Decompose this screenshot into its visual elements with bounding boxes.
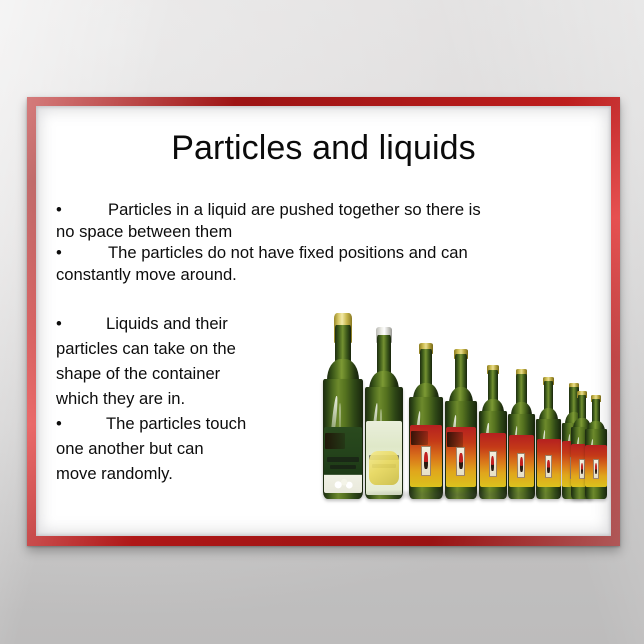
bottle-label [537,439,561,487]
bullet-text: shape of the container [56,364,220,383]
bullet-line: •Particles in a liquid are pushed togeth… [56,199,591,221]
bottle-body [536,419,561,499]
bottle-label [509,435,535,487]
bottle-label [446,427,477,487]
label-emblem-icon [517,453,525,478]
label-emblem-icon [489,451,497,477]
slide-content: Particles and liquids •Particles in a li… [36,106,611,536]
bullet-line: one another but can [56,436,318,461]
bottle-label [585,445,606,487]
bullet-line: shape of the container [56,361,318,386]
label-emblem-icon [456,447,465,476]
label-emblem-icon [421,446,431,476]
label-emblem-icon [579,459,585,480]
bottle-body [479,411,507,499]
bullet-text: constantly move around. [56,265,237,284]
label-emblem-icon [593,459,599,479]
bullet-item-4: •The particles touch one another but can… [56,411,318,486]
bottle-5 [479,365,507,499]
bullet-text: particles can take on the [56,339,236,358]
bullet-text: The particles touch [106,414,246,433]
bottle-body [365,387,403,499]
bottle-body [445,401,477,499]
bottle-label [366,421,402,495]
bullet-line: •Liquids and their [56,311,318,336]
bullet-line: •The particles touch [56,411,318,436]
bullet-marker-icon: • [56,311,64,336]
bottle-body [508,414,535,499]
bullet-line: particles can take on the [56,336,318,361]
bullet-line: move randomly. [56,461,318,486]
bottle-7 [536,377,561,499]
bullet-marker-icon: • [56,199,64,221]
bullet-item-1: •Particles in a liquid are pushed togeth… [56,199,591,242]
bullet-text: Particles in a liquid are pushed togethe… [108,200,481,219]
bullet-text: which they are in. [56,389,185,408]
label-text-line [330,465,356,468]
bullet-line: which they are in. [56,386,318,411]
bottle-label [410,425,443,487]
bullet-marker-icon: • [56,411,64,436]
picture-frame: Particles and liquids •Particles in a li… [27,97,620,546]
label-text-line [327,457,359,462]
bullet-text: The particles do not have fixed position… [108,243,468,262]
poster-scene: Particles and liquids •Particles in a li… [0,0,644,644]
bullet-text: no space between them [56,222,232,241]
bullet-list-narrow: •Liquids and their particles can take on… [56,311,318,486]
label-brand-mark [411,431,428,446]
bullet-marker-icon: • [56,242,64,264]
label-lemon-icon [369,451,398,485]
bullet-text: one another but can [56,439,204,458]
bullet-line: constantly move around. [56,264,591,286]
bullet-text: Liquids and their [106,314,228,333]
bottles-shadow [329,489,601,501]
bullet-list-wide: •Particles in a liquid are pushed togeth… [56,199,591,285]
bottle-3 [409,343,443,499]
bullet-line: no space between them [56,221,591,243]
bullet-line: •The particles do not have fixed positio… [56,242,591,264]
bottle-2 [365,327,403,499]
bottle-4 [445,349,477,499]
bottle-1 [323,313,363,499]
bottle-10 [585,395,607,499]
poster-mat: Particles and liquids •Particles in a li… [36,106,611,536]
bottle-6 [508,369,535,499]
page-title: Particles and liquids [36,129,611,167]
label-brand-mark [325,433,345,449]
bottle-body [323,379,363,499]
label-emblem-icon [545,455,552,478]
bottle-label [324,427,362,493]
bullet-item-3: •Liquids and their particles can take on… [56,311,318,411]
bullet-item-2: •The particles do not have fixed positio… [56,242,591,285]
label-brand-mark [447,432,463,446]
bottles-photo [321,311,609,499]
bullet-text: move randomly. [56,464,173,483]
bottle-label [480,433,507,487]
bottle-body [409,397,443,499]
